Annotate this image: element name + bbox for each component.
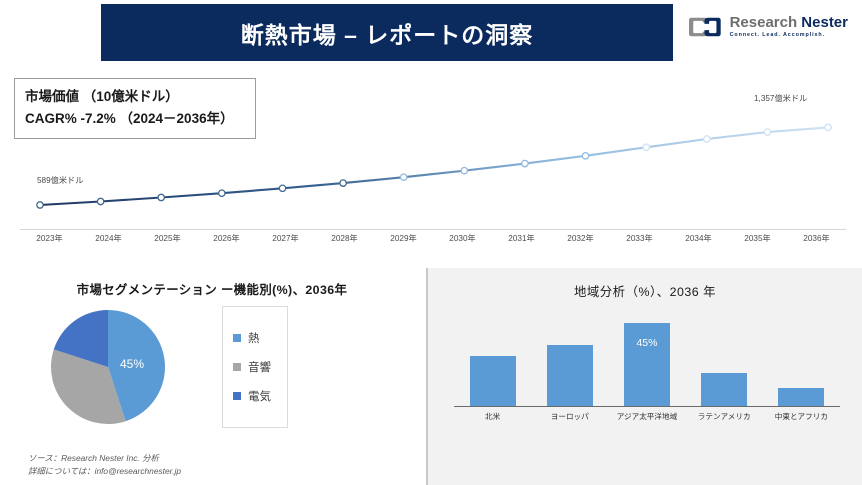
source-line-2: 詳細については：info@researchnester.jp	[28, 465, 181, 478]
trend-point	[37, 202, 43, 208]
pie-legend-label: 熱	[248, 330, 260, 346]
trend-markers	[37, 124, 831, 208]
legend-swatch-icon	[233, 392, 241, 400]
pie-legend-label: 電気	[248, 388, 271, 404]
segmentation-pie-chart: 45%	[42, 307, 174, 427]
source-note: ソース：Research Nester Inc. 分析 詳細については：info…	[28, 452, 181, 478]
source-line-1: ソース：Research Nester Inc. 分析	[28, 452, 181, 465]
header-banner: 断熱市場 – レポートの洞察	[101, 4, 673, 61]
line-chart-svg	[0, 66, 862, 236]
trend-point	[158, 194, 164, 200]
year-label: 2030年	[433, 232, 492, 244]
pie-legend-item[interactable]: 音響	[233, 359, 271, 375]
year-label: 2034年	[669, 232, 728, 244]
market-value-line-chart: 589億米ドル 1,357億米ドル	[0, 66, 862, 236]
trend-point	[461, 168, 467, 174]
trend-point	[704, 136, 710, 142]
pie-svg	[42, 307, 174, 427]
year-label: 2024年	[79, 232, 138, 244]
region-bar[interactable]: 45%	[624, 323, 670, 406]
logo-name-second: Nester	[801, 14, 848, 31]
pie-legend-item[interactable]: 熱	[233, 330, 271, 346]
year-label: 2026年	[197, 232, 256, 244]
year-label: 2031年	[492, 232, 551, 244]
pie-legend-label: 音響	[248, 359, 271, 375]
year-label: 2028年	[315, 232, 374, 244]
region-bar-label: 中東とアフリカ	[764, 411, 838, 422]
year-label: 2036年	[787, 232, 846, 244]
line-chart-axis	[20, 229, 846, 230]
region-bar-label: 北米	[456, 411, 530, 422]
regional-analysis-panel: 地域分析（%）、2036 年 45% 北米ヨーロッパアジア太平洋地域ラテンアメリ…	[426, 268, 862, 485]
region-bar-label: ヨーロッパ	[533, 411, 607, 422]
bar-slot	[547, 314, 593, 406]
trend-point	[643, 144, 649, 150]
year-label: 2029年	[374, 232, 433, 244]
regional-analysis-title: 地域分析（%）、2036 年	[428, 268, 862, 300]
pie-legend: 熱音響電気	[222, 306, 288, 428]
region-bar[interactable]	[701, 373, 747, 406]
legend-swatch-icon	[233, 334, 241, 342]
logo-name-first: Research	[730, 14, 798, 31]
line-end-value-label: 1,357億米ドル	[754, 92, 807, 104]
page-title: 断熱市場 – レポートの洞察	[241, 16, 534, 50]
year-label: 2033年	[610, 232, 669, 244]
trend-point	[279, 185, 285, 191]
year-label: 2035年	[728, 232, 787, 244]
trend-point	[764, 129, 770, 135]
bar-slot	[701, 314, 747, 406]
trend-point	[97, 198, 103, 204]
chain-link-logo-icon	[689, 14, 723, 40]
bar-slot	[778, 314, 824, 406]
logo-tagline: Connect. Lead. Accomplish.	[730, 33, 848, 38]
pie-legend-item[interactable]: 電気	[233, 388, 271, 404]
region-bar[interactable]	[778, 388, 824, 406]
year-label: 2025年	[138, 232, 197, 244]
legend-swatch-icon	[233, 363, 241, 371]
trend-point	[340, 180, 346, 186]
pie-data-label: 45%	[120, 357, 144, 371]
year-label: 2032年	[551, 232, 610, 244]
trend-point	[401, 174, 407, 180]
brand-logo: Research Nester Connect. Lead. Accomplis…	[689, 14, 848, 40]
line-chart-year-labels: 2023年2024年2025年2026年2027年2028年2029年2030年…	[20, 232, 846, 244]
region-bar[interactable]	[547, 345, 593, 406]
bar-slot: 45%	[624, 314, 670, 406]
trend-point	[825, 124, 831, 130]
region-bar-label: ラテンアメリカ	[687, 411, 761, 422]
pie-slices	[51, 310, 165, 424]
logo-text: Research Nester Connect. Lead. Accomplis…	[730, 15, 848, 38]
year-label: 2027年	[256, 232, 315, 244]
region-bar[interactable]	[470, 356, 516, 406]
bar-data-label: 45%	[624, 337, 670, 349]
line-start-value-label: 589億米ドル	[37, 174, 83, 186]
bar-slot	[470, 314, 516, 406]
regional-bar-labels: 北米ヨーロッパアジア太平洋地域ラテンアメリカ中東とアフリカ	[454, 411, 840, 422]
region-bar-label: アジア太平洋地域	[610, 411, 684, 422]
year-label: 2023年	[20, 232, 79, 244]
trend-point	[522, 160, 528, 166]
segmentation-title: 市場セグメンテーション ー機能別(%)、2036年	[0, 268, 424, 298]
regional-bar-chart: 45%	[454, 314, 840, 407]
trend-point	[582, 153, 588, 159]
trend-point	[219, 190, 225, 196]
logo-name: Research Nester	[730, 15, 848, 30]
